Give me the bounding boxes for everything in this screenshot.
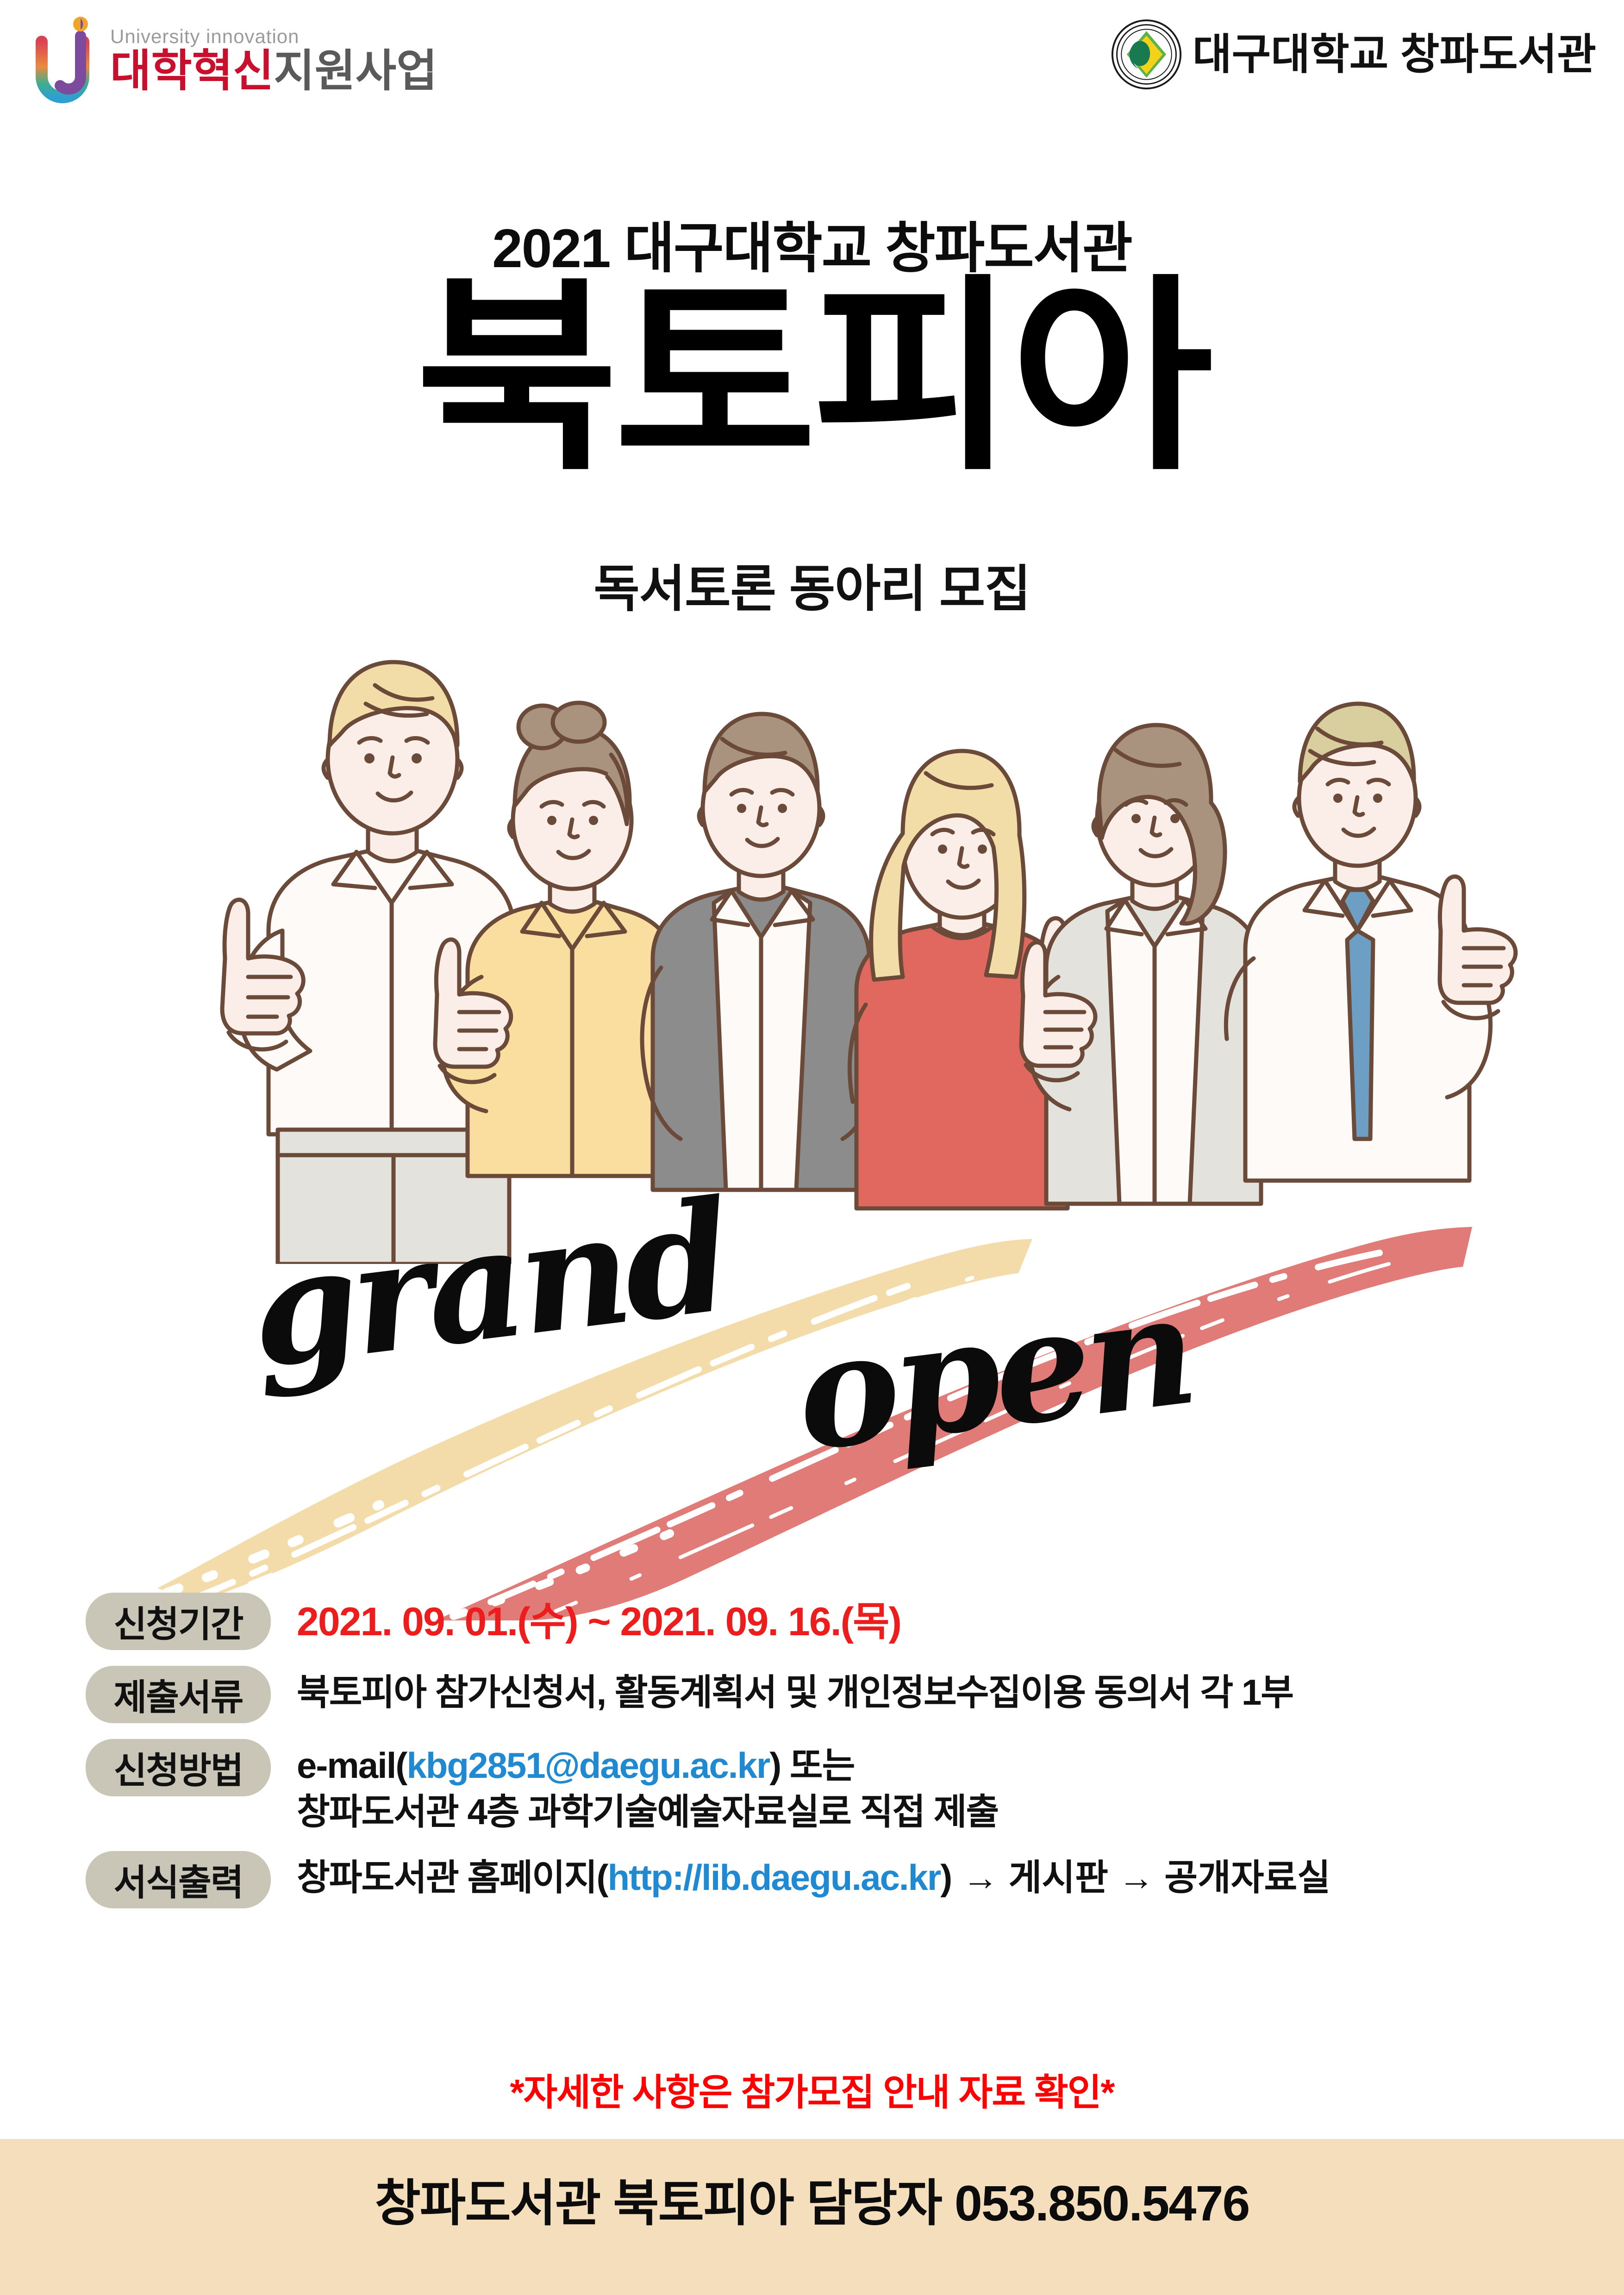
homepage-prefix: 창파도서관 홈페이지( xyxy=(297,1857,608,1898)
info-row-application-method: 신청방법 e-mail(kbg2851@daegu.ac.kr) 또는 창파도서… xyxy=(86,1739,1558,1835)
label-application-method: 신청방법 xyxy=(86,1739,271,1796)
info-table: 신청기간 2021. 09. 01.(수) ~ 2021. 09. 16.(목)… xyxy=(86,1593,1558,1924)
info-row-form-download: 서식출력 창파도서관 홈페이지(http://lib.daegu.ac.kr) … xyxy=(86,1851,1558,1908)
info-row-required-documents: 제출서류 북토피아 참가신청서, 활동계획서 및 개인정보수집이용 동의서 각 … xyxy=(86,1666,1558,1723)
ui-logo-korean-red: 대학혁신 xyxy=(110,46,274,96)
homepage-link[interactable]: http://lib.daegu.ac.kr xyxy=(608,1857,941,1898)
library-logo: 대구대학교 창파도서관 xyxy=(1111,19,1596,90)
detail-note: *자세한 사항은 참가모집 안내 자료 확인* xyxy=(0,2063,1624,2116)
university-innovation-u-mark xyxy=(32,14,102,106)
email-prefix: e-mail( xyxy=(297,1745,406,1786)
ui-logo-korean-gray: 지원사업 xyxy=(274,46,437,96)
person-6 xyxy=(1226,704,1515,1181)
application-method-line2: 창파도서관 4층 과학기술예술자료실로 직접 제출 xyxy=(297,1789,1558,1835)
library-name: 대구대학교 창파도서관 xyxy=(1193,33,1596,76)
ui-logo-english: University innovation xyxy=(110,27,437,46)
application-method-line1: e-mail(kbg2851@daegu.ac.kr) 또는 xyxy=(297,1743,1558,1789)
value-required-documents: 북토피아 참가신청서, 활동계획서 및 개인정보수집이용 동의서 각 1부 xyxy=(271,1666,1558,1716)
info-row-application-period: 신청기간 2021. 09. 01.(수) ~ 2021. 09. 16.(목) xyxy=(86,1593,1558,1650)
daegu-university-seal-icon xyxy=(1111,19,1182,90)
people-illustration xyxy=(116,607,1528,1264)
label-required-documents: 제출서류 xyxy=(86,1666,271,1723)
form-download-line1: 창파도서관 홈페이지(http://lib.daegu.ac.kr) → 게시판… xyxy=(297,1855,1558,1901)
value-application-method: e-mail(kbg2851@daegu.ac.kr) 또는 창파도서관 4층 … xyxy=(271,1739,1558,1835)
email-suffix: ) 또는 xyxy=(769,1745,854,1786)
homepage-path: ) → 게시판 → 공개자료실 xyxy=(940,1857,1330,1898)
ui-logo-korean: 대학혁신지원사업 xyxy=(110,49,437,94)
email-link[interactable]: kbg2851@daegu.ac.kr xyxy=(406,1745,769,1786)
university-innovation-wordmark: University innovation 대학혁신지원사업 xyxy=(110,27,437,94)
label-application-period: 신청기간 xyxy=(86,1593,271,1650)
label-form-download: 서식출력 xyxy=(86,1851,271,1908)
poster-main-title: 북토피아 xyxy=(0,269,1624,488)
value-application-period: 2021. 09. 01.(수) ~ 2021. 09. 16.(목) xyxy=(271,1593,1558,1647)
footer-contact: 창파도서관 북토피아 담당자 053.850.5476 xyxy=(375,2163,1249,2235)
value-form-download: 창파도서관 홈페이지(http://lib.daegu.ac.kr) → 게시판… xyxy=(271,1851,1558,1901)
person-3 xyxy=(642,714,881,1190)
poster-canvas: University innovation 대학혁신지원사업 대구대학교 창파도… xyxy=(0,0,1624,2295)
footer-bar: 창파도서관 북토피아 담당자 053.850.5476 xyxy=(0,2139,1624,2295)
university-innovation-logo: University innovation 대학혁신지원사업 xyxy=(32,14,437,106)
person-5 xyxy=(1021,725,1281,1204)
